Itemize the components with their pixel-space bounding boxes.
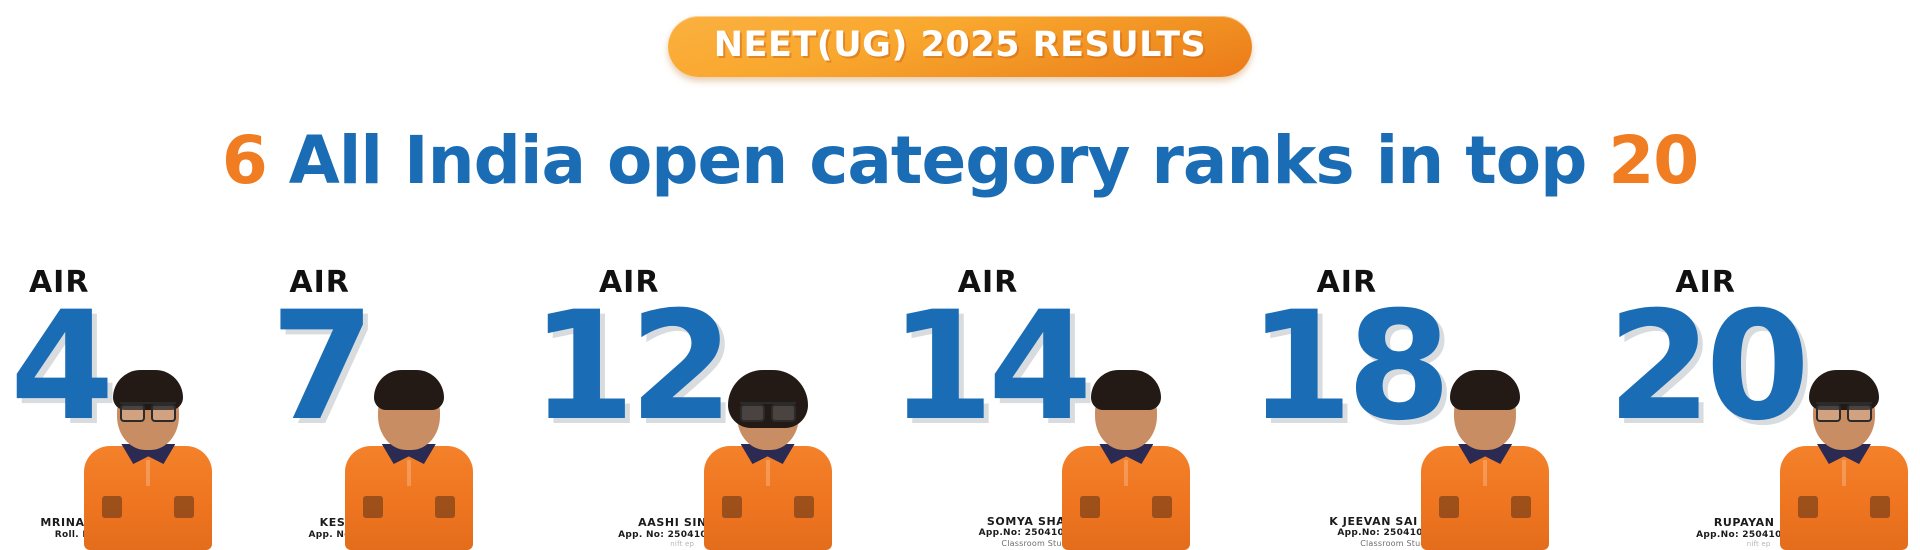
hair xyxy=(1091,370,1161,410)
shirt-logo-left-icon xyxy=(722,496,742,518)
uniform-shirt xyxy=(1421,446,1549,550)
topper-photo xyxy=(82,368,214,550)
rank-number: 14 xyxy=(890,296,1087,439)
shirt-placket xyxy=(1483,460,1487,486)
rank-number: 12 xyxy=(531,296,728,439)
results-banner-pill-wrapper: NEET(UG) 2025 RESULTS xyxy=(0,16,1920,77)
topper-card: AIR14SOMYA SHARMAApp.No: 250410231562Cla… xyxy=(890,262,1193,550)
page-headline: 6 All India open category ranks in top 2… xyxy=(0,128,1920,194)
topper-photo xyxy=(1778,368,1910,550)
shirt-placket xyxy=(1124,460,1128,486)
shirt-logo-right-icon xyxy=(1511,496,1531,518)
rank-block: AIR18 xyxy=(1248,262,1445,439)
uniform-shirt xyxy=(84,446,212,550)
shirt-placket xyxy=(146,460,150,486)
toppers-strip: AIR4MRINAL KISHORE JHARoll. No: 21131031… xyxy=(0,262,1920,550)
results-banner-pill: NEET(UG) 2025 RESULTS xyxy=(668,16,1253,77)
shirt-logo-left-icon xyxy=(363,496,383,518)
topper-card: AIR18K JEEVAN SAI KUMARApp.No: 250410773… xyxy=(1248,262,1551,550)
shirt-logo-right-icon xyxy=(435,496,455,518)
hair xyxy=(374,370,444,410)
topper-photo xyxy=(343,368,475,550)
topper-card: AIR12AASHI SINGHApp. No: 250410681718nif… xyxy=(531,262,834,550)
shirt-placket xyxy=(1842,460,1846,486)
rank-block: AIR14 xyxy=(890,262,1087,439)
glasses-icon xyxy=(120,402,176,418)
glasses-icon xyxy=(740,402,796,418)
topper-card: AIR7KESHAV MITTALApp. No: 250410409787ni… xyxy=(270,262,474,550)
rank-block: AIR20 xyxy=(1607,262,1804,439)
shirt-placket xyxy=(407,460,411,486)
shirt-placket xyxy=(766,460,770,486)
uniform-shirt xyxy=(1062,446,1190,550)
headline-text: All India open category ranks in top xyxy=(267,122,1609,199)
topper-photo xyxy=(1419,368,1551,550)
rank-number: 20 xyxy=(1607,296,1804,439)
headline-top-n: 20 xyxy=(1608,122,1698,199)
headline-count: 6 xyxy=(222,122,267,199)
glasses-icon xyxy=(1816,402,1872,418)
shirt-logo-right-icon xyxy=(1870,496,1890,518)
shirt-logo-left-icon xyxy=(1080,496,1100,518)
hair xyxy=(1450,370,1520,410)
topper-photo xyxy=(702,368,834,550)
shirt-logo-right-icon xyxy=(794,496,814,518)
topper-card: AIR20RUPAYAN PALApp.No: 250410013768nift… xyxy=(1607,262,1910,550)
neet-results-banner: { "banner": { "pill_label": "NEET(UG) 20… xyxy=(0,0,1920,550)
results-banner-pill-label: NEET(UG) 2025 RESULTS xyxy=(714,28,1207,63)
uniform-shirt xyxy=(345,446,473,550)
topper-card: AIR4MRINAL KISHORE JHARoll. No: 21131031… xyxy=(10,262,214,550)
uniform-shirt xyxy=(704,446,832,550)
shirt-logo-right-icon xyxy=(1152,496,1172,518)
topper-photo xyxy=(1060,368,1192,550)
rank-number: 18 xyxy=(1248,296,1445,439)
shirt-logo-left-icon xyxy=(1439,496,1459,518)
shirt-logo-right-icon xyxy=(174,496,194,518)
shirt-logo-left-icon xyxy=(102,496,122,518)
uniform-shirt xyxy=(1780,446,1908,550)
shirt-logo-left-icon xyxy=(1798,496,1818,518)
rank-block: AIR12 xyxy=(531,262,728,439)
